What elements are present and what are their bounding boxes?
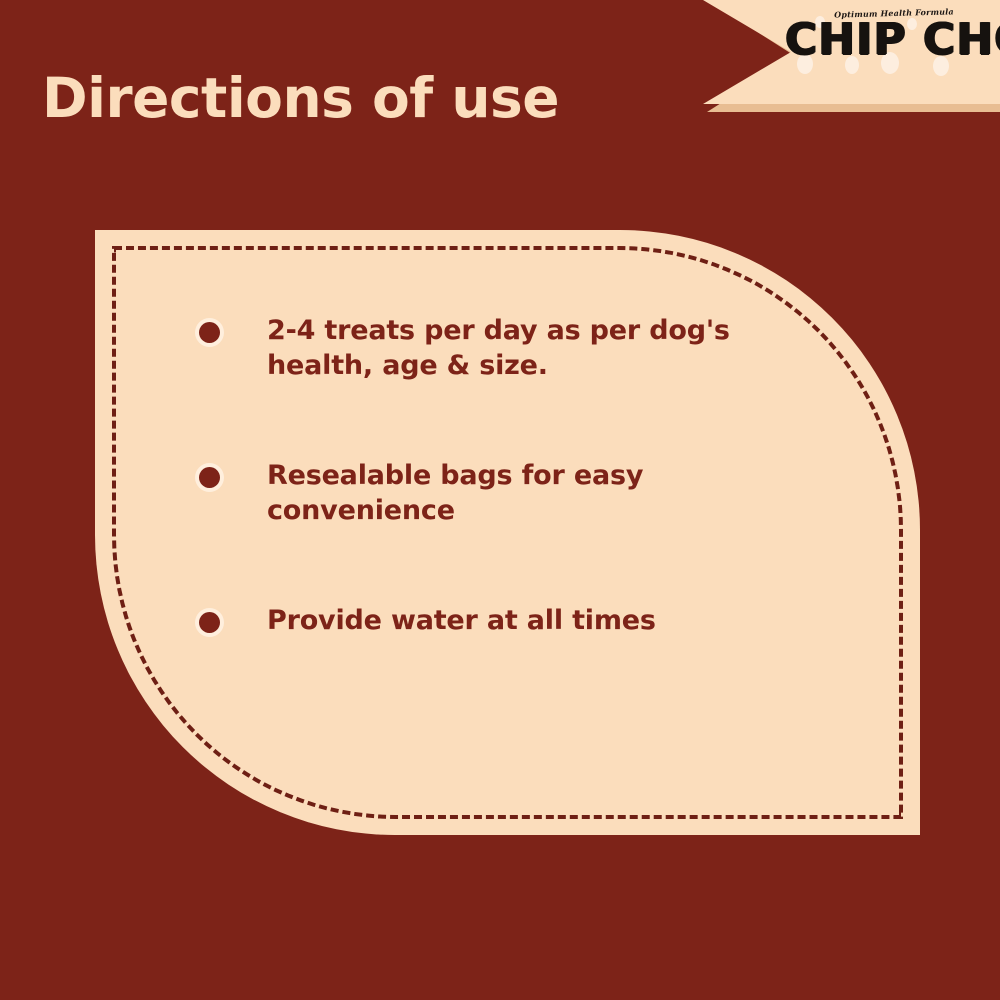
list-item: 2-4 treats per day as per dog's health, … xyxy=(195,314,815,383)
list-item-label: 2-4 treats per day as per dog's health, … xyxy=(267,314,815,383)
brand-wordmark: CHIP CHOPs xyxy=(785,18,995,62)
directions-of-use-poster: Directions of use Optimum Health Formula… xyxy=(0,0,1000,1000)
directions-card: 2-4 treats per day as per dog's health, … xyxy=(95,230,920,835)
list-item-label: Provide water at all times xyxy=(267,604,656,639)
list-item-label: Resealable bags for easy convenience xyxy=(267,459,815,528)
bullet-dot-icon xyxy=(199,467,220,488)
bullet-dot-icon xyxy=(199,612,220,633)
bullet-dot-icon xyxy=(199,322,220,343)
brand-ribbon: Optimum Health Formula CHIP CHOPs xyxy=(685,0,1000,112)
list-item: Provide water at all times xyxy=(195,604,815,639)
page-title: Directions of use xyxy=(42,61,682,137)
brand-wordmark-main: CHIP CHOP xyxy=(785,14,1000,65)
list-item: Resealable bags for easy convenience xyxy=(195,459,815,528)
brand-logo: Optimum Health Formula CHIP CHOPs xyxy=(785,2,995,98)
directions-list: 2-4 treats per day as per dog's health, … xyxy=(195,314,815,639)
